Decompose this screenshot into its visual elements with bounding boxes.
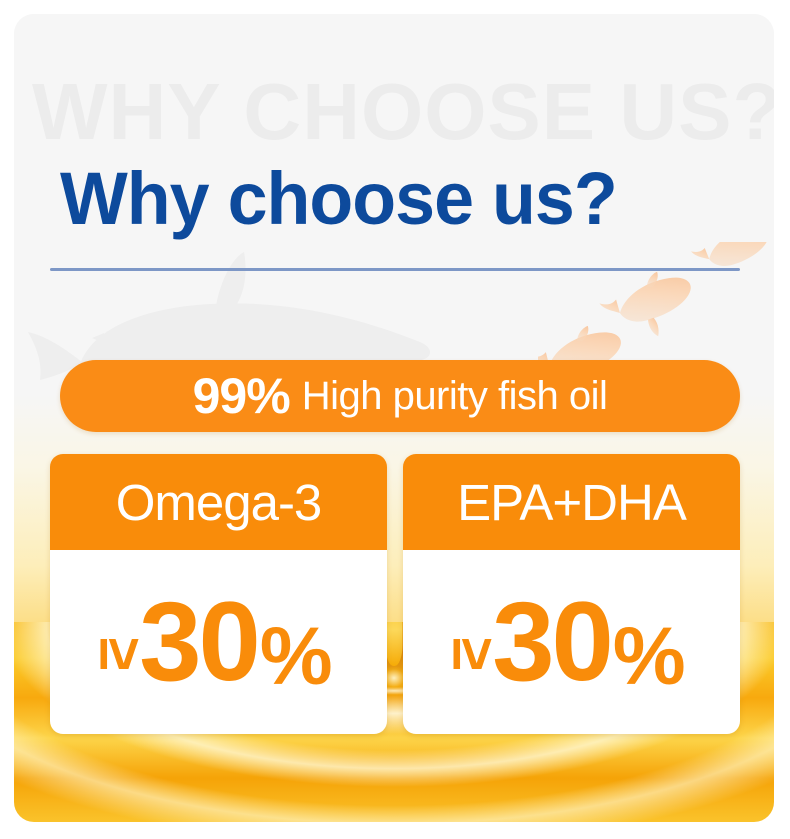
spec-card-number: 30 [139,586,258,698]
greater-equal-icon: ≥ [444,638,504,671]
spec-card-value: ≥ 30 % [104,586,332,698]
spec-card-number: 30 [492,586,611,698]
infographic-panel: WHY CHOOSE US? [14,14,774,822]
spec-card-group: Omega-3 ≥ 30 % EPA+DHA ≥ 30 % [50,454,740,734]
purity-label: High purity fish oil [302,376,608,416]
spec-card-body: ≥ 30 % [403,550,740,734]
spec-card-header: EPA+DHA [403,454,740,550]
title-divider [50,268,740,271]
fish-icon [688,242,768,278]
spec-card-epa-dha: EPA+DHA ≥ 30 % [403,454,740,734]
spec-card-title: EPA+DHA [457,477,686,528]
page-title: Why choose us? [60,162,617,236]
watermark-title: WHY CHOOSE US? [32,72,774,152]
spec-card-header: Omega-3 [50,454,387,550]
purity-percent: 99% [193,371,290,421]
spec-card-title: Omega-3 [116,477,322,528]
spec-card-body: ≥ 30 % [50,550,387,734]
spec-card-unit: % [613,616,686,698]
spec-card-value: ≥ 30 % [457,586,685,698]
greater-equal-icon: ≥ [91,638,151,671]
spec-card-omega3: Omega-3 ≥ 30 % [50,454,387,734]
spec-card-unit: % [260,616,333,698]
purity-banner: 99% High purity fish oil [60,360,740,432]
